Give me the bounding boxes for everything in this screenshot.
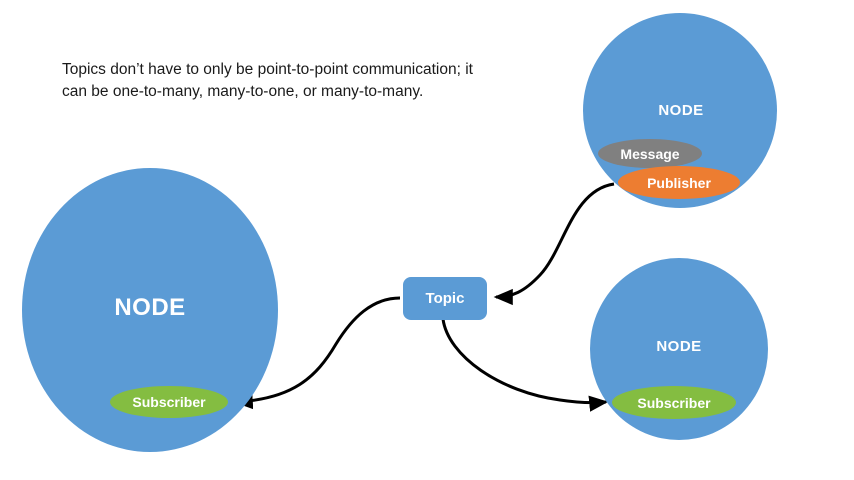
topic-box: Topic [403, 277, 487, 320]
publisher-ellipse: Publisher [618, 166, 740, 199]
node-label-top-right: NODE [601, 102, 761, 119]
subscriber-ellipse-left: Subscriber [110, 386, 228, 418]
message-ellipse: Message [598, 139, 702, 168]
edge-topic-to-right-subscriber [443, 319, 606, 403]
edge-publisher-to-topic [496, 184, 614, 297]
subscriber-ellipse-right: Subscriber [612, 386, 736, 419]
caption-text: Topics don’t have to only be point-to-po… [62, 59, 482, 104]
node-label-bottom-right: NODE [599, 338, 759, 355]
node-label-left: NODE [0, 294, 300, 322]
